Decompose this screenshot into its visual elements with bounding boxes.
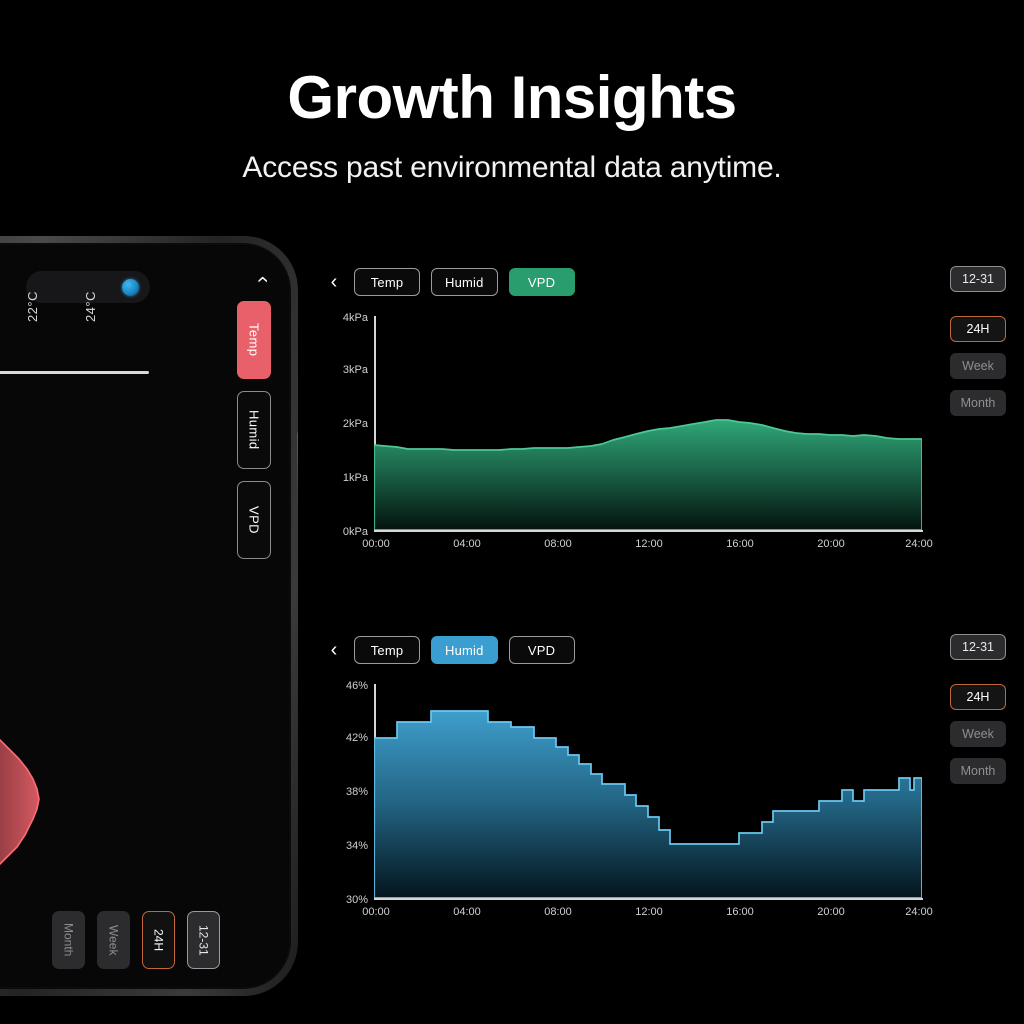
vpd-axis-x-line bbox=[374, 530, 923, 532]
date-pill[interactable]: 12-31 bbox=[950, 266, 1006, 292]
tab-humid[interactable]: Humid bbox=[431, 268, 498, 296]
phone-range-24h[interactable]: 24H bbox=[142, 911, 175, 969]
y-tick: 2kPa bbox=[343, 418, 368, 430]
vpd-plot-area bbox=[374, 316, 922, 530]
phone-metric-tabs: Temp Humid VPD bbox=[237, 301, 271, 559]
phone-tab-vpd[interactable]: VPD bbox=[237, 481, 271, 559]
tab-humid[interactable]: Humid bbox=[431, 636, 498, 664]
vpd-chart-card: ‹ Temp Humid VPD 0kPa 1kPa 2kPa 3kPa 4kP… bbox=[326, 262, 1006, 582]
y-tick: 38% bbox=[346, 786, 368, 798]
x-tick: 20:00 bbox=[817, 906, 845, 918]
phone-tab-label: Temp bbox=[247, 323, 262, 356]
x-tick: 16:00 bbox=[726, 538, 754, 550]
vpd-area-series bbox=[374, 316, 922, 530]
phone-range-label: Week bbox=[107, 925, 121, 955]
date-pill[interactable]: 12-31 bbox=[950, 634, 1006, 660]
x-tick: 16:00 bbox=[726, 906, 754, 918]
tab-label: VPD bbox=[528, 643, 555, 658]
phone-tab-humid[interactable]: Humid bbox=[237, 391, 271, 469]
tab-label: VPD bbox=[528, 275, 555, 290]
tab-vpd[interactable]: VPD bbox=[509, 636, 575, 664]
tab-temp[interactable]: Temp bbox=[354, 268, 420, 296]
humidity-x-axis: 00:00 04:00 08:00 12:00 16:00 20:00 24:0… bbox=[374, 906, 923, 922]
phone-tab-label: VPD bbox=[247, 506, 262, 534]
humidity-axis-x-line bbox=[374, 898, 923, 900]
range-24h[interactable]: 24H bbox=[950, 316, 1006, 342]
x-tick: 00:00 bbox=[362, 906, 390, 918]
x-tick: 24:00 bbox=[905, 906, 933, 918]
humidity-card-header: ‹ Temp Humid VPD bbox=[326, 630, 1006, 670]
x-tick: 08:00 bbox=[544, 906, 572, 918]
back-chevron-icon[interactable]: ‹ bbox=[326, 272, 342, 292]
humidity-area-series bbox=[374, 684, 922, 898]
phone-screen: 18°C 20°C 22°C 24°C bbox=[0, 245, 289, 987]
vpd-y-axis: 0kPa 1kPa 2kPa 3kPa 4kPa bbox=[326, 316, 368, 532]
range-month[interactable]: Month bbox=[950, 758, 1006, 784]
phone-tab-temp[interactable]: Temp bbox=[237, 301, 271, 379]
phone-side-button[interactable] bbox=[297, 432, 298, 510]
tab-label: Temp bbox=[371, 643, 404, 658]
humidity-y-axis: 30% 34% 38% 42% 46% bbox=[326, 684, 368, 900]
phone-back-icon[interactable]: ‹ bbox=[253, 276, 274, 283]
range-24h[interactable]: 24H bbox=[950, 684, 1006, 710]
page-title: Growth Insights bbox=[0, 66, 1024, 129]
humidity-chart-body: 30% 34% 38% 42% 46% 00:00 04: bbox=[326, 678, 926, 934]
y-tick: 46% bbox=[346, 680, 368, 692]
back-chevron-icon[interactable]: ‹ bbox=[326, 640, 342, 660]
phone-range-selector: Month Week 24H 12-31 bbox=[0, 911, 289, 969]
range-week[interactable]: Week bbox=[950, 721, 1006, 747]
x-tick: 12:00 bbox=[635, 538, 663, 550]
vpd-chart-body: 0kPa 1kPa 2kPa 3kPa 4kPa 00:00 bbox=[326, 310, 926, 566]
vpd-range-rail: 12-31 24H Week Month bbox=[950, 266, 1006, 427]
vpd-area-path bbox=[374, 420, 922, 530]
range-week[interactable]: Week bbox=[950, 353, 1006, 379]
phone-date-pill[interactable]: 12-31 bbox=[187, 911, 220, 969]
x-tick: 08:00 bbox=[544, 538, 572, 550]
page-subtitle: Access past environmental data anytime. bbox=[0, 151, 1024, 185]
x-tick: 04:00 bbox=[453, 906, 481, 918]
x-tick: 24:00 bbox=[905, 538, 933, 550]
y-tick: 34% bbox=[346, 840, 368, 852]
y-tick: 42% bbox=[346, 732, 368, 744]
tab-temp[interactable]: Temp bbox=[354, 636, 420, 664]
range-month[interactable]: Month bbox=[950, 390, 1006, 416]
tab-label: Humid bbox=[445, 275, 484, 290]
phone-tab-label: Humid bbox=[247, 410, 262, 450]
phone-temp-area bbox=[0, 329, 155, 919]
phone-date-label: 12-31 bbox=[197, 925, 211, 956]
x-tick: 12:00 bbox=[635, 906, 663, 918]
phone-range-label: Month bbox=[62, 923, 76, 956]
phone-body: 18°C 20°C 22°C 24°C bbox=[0, 243, 291, 989]
humidity-range-rail: 12-31 24H Week Month bbox=[950, 634, 1006, 795]
humidity-metric-tabs: Temp Humid VPD bbox=[354, 636, 575, 664]
tab-label: Temp bbox=[371, 275, 404, 290]
y-tick: 30% bbox=[346, 894, 368, 906]
phone-temp-chart bbox=[0, 329, 155, 919]
phone-axis-tick: 24°C bbox=[83, 291, 98, 322]
vpd-card-header: ‹ Temp Humid VPD bbox=[326, 262, 1006, 302]
y-tick: 4kPa bbox=[343, 312, 368, 324]
vpd-x-axis: 00:00 04:00 08:00 12:00 16:00 20:00 24:0… bbox=[374, 538, 923, 554]
tab-vpd[interactable]: VPD bbox=[509, 268, 575, 296]
y-tick: 1kPa bbox=[343, 472, 368, 484]
x-tick: 20:00 bbox=[817, 538, 845, 550]
phone-mockup: 18°C 20°C 22°C 24°C bbox=[0, 236, 298, 996]
humidity-chart-card: ‹ Temp Humid VPD 30% 34% 38% 42% 46% bbox=[326, 630, 1006, 950]
vpd-metric-tabs: Temp Humid VPD bbox=[354, 268, 575, 296]
phone-range-month[interactable]: Month bbox=[52, 911, 85, 969]
phone-axis-tick: 22°C bbox=[25, 291, 40, 322]
y-tick: 3kPa bbox=[343, 364, 368, 376]
x-tick: 00:00 bbox=[362, 538, 390, 550]
phone-range-week[interactable]: Week bbox=[97, 911, 130, 969]
phone-range-label: 24H bbox=[152, 929, 166, 951]
y-tick: 0kPa bbox=[343, 526, 368, 538]
hero-header: Growth Insights Access past environmenta… bbox=[0, 0, 1024, 185]
tab-label: Humid bbox=[445, 643, 484, 658]
x-tick: 04:00 bbox=[453, 538, 481, 550]
humidity-step-path bbox=[374, 711, 922, 898]
humidity-plot-area bbox=[374, 684, 922, 898]
